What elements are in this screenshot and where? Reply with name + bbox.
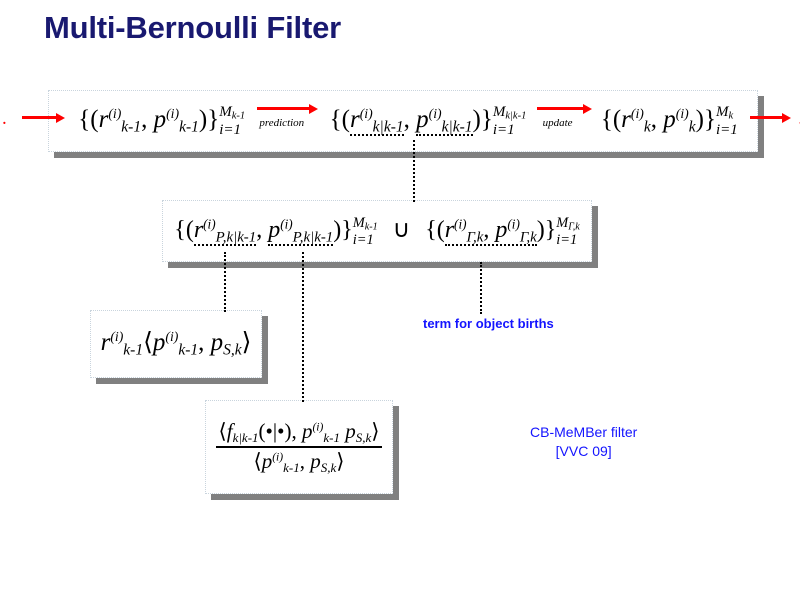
equation-box-survival-density: ⟨fk|k-1(•|•), p(i)k-1 pS,k⟩ ⟨p(i)k-1, pS… [205, 400, 393, 494]
math-p-surv-exist-sub: k-1 [178, 342, 198, 359]
arrow-in [14, 116, 72, 126]
union-symbol: ∪ [384, 217, 420, 243]
fraction-denominator: ⟨p(i)k-1, pS,k⟩ [216, 448, 383, 474]
arrow-out [744, 116, 792, 126]
math-p-prev: p [154, 106, 167, 133]
equation-box-survival-existence: r(i)k-1⟨p(i)k-1, pS,k⟩ [90, 310, 262, 378]
term-r-predicted: r(i)k|k-1 [350, 106, 404, 136]
math-p-num-sup: (i) [312, 421, 323, 433]
fraction: ⟨fk|k-1(•|•), p(i)k-1 pS,k⟩ ⟨p(i)k-1, pS… [216, 421, 383, 474]
math-r-prev-sup: (i) [108, 106, 121, 121]
index-top-sub: k|k-1 [505, 111, 526, 122]
math-f-args: (•|•) [259, 419, 292, 443]
math-ps: p [211, 329, 224, 356]
connector-births-to-annotation [480, 262, 482, 314]
term-r-survival: r(i)P,k|k-1 [194, 217, 256, 246]
index-top: M [353, 215, 365, 231]
math-ps-den: p [310, 449, 321, 473]
ket-bracket: ⟩ [371, 419, 379, 443]
math-index-post: Mki=1 [716, 105, 738, 138]
math-r-surv-exist: r [101, 329, 111, 356]
math-ps-sub: S,k [223, 342, 242, 359]
bra-bracket: ⟨ [219, 419, 227, 443]
math-p-den-sup: (i) [272, 451, 283, 463]
index-top: M [556, 215, 568, 231]
math-p-surv-exist: p [153, 329, 166, 356]
math-r-surv-sup: (i) [203, 216, 215, 231]
slide-canvas: Multi-Bernoulli Filter ... {(r(i)k-1, p(… [0, 0, 800, 599]
index-top-sub: k [728, 111, 733, 122]
arrow-prediction: prediction [251, 116, 323, 126]
math-p-birth-sup: (i) [507, 216, 519, 231]
index-bot: i=1 [353, 233, 378, 248]
math-p-surv: p [268, 217, 280, 243]
math-p-post-sup: (i) [676, 106, 689, 121]
index-bot: i=1 [219, 123, 245, 138]
annotation-reference-line1: CB-MeMBer filter [530, 423, 637, 442]
connector-predicted-to-expansion [413, 140, 415, 202]
term-p-predicted: p(i)k|k-1 [416, 106, 472, 136]
math-p-post-sub: k [689, 118, 696, 135]
math-p-den: p [262, 449, 273, 473]
math-posterior-prev: {(r(i)k-1, p(i)k-1)}Mk-1i=1 [78, 106, 251, 133]
math-index-birth: MΓ,ki=1 [556, 216, 579, 247]
comma: , [291, 419, 296, 443]
math-posterior: {(r(i)k, p(i)k)}Mki=1 [601, 106, 744, 133]
leading-dots: ... [0, 108, 8, 129]
index-top-sub: k-1 [232, 111, 245, 122]
connector-survival-p-to-density [302, 252, 304, 402]
math-index-prev: Mk-1i=1 [219, 105, 245, 138]
index-bot: i=1 [556, 233, 579, 248]
arrow-update: update [533, 116, 595, 126]
math-p-surv-sup: (i) [280, 216, 292, 231]
math-p-surv-exist-sup: (i) [165, 329, 178, 344]
index-top: M [493, 104, 506, 120]
index-top-sub: k-1 [365, 221, 378, 232]
math-r-post: r [621, 106, 631, 133]
math-r-pred-sup: (i) [360, 106, 373, 121]
arrow-label-update: update [543, 118, 573, 129]
math-p-pred: p [416, 106, 429, 133]
equation-box-prediction-expansion: {(r(i)P,k|k-1, p(i)P,k|k-1)}Mk-1i=1 ∪ {(… [162, 200, 592, 262]
math-f-sub: k|k-1 [233, 429, 259, 444]
math-p-birth-sub: Γ,k [520, 229, 537, 245]
math-p-num: p [302, 419, 313, 443]
math-survivals: {(r(i)P,k|k-1, p(i)P,k|k-1)}Mk-1i=1 [174, 217, 383, 243]
index-top-sub: Γ,k [568, 221, 579, 232]
ket-bracket: ⟩ [242, 329, 252, 356]
math-p-prev-sub: k-1 [179, 118, 199, 135]
connector-survival-r-to-existence [224, 252, 226, 312]
math-r-surv-sub: P,k|k-1 [216, 229, 257, 245]
index-top: M [219, 104, 232, 120]
annotation-object-births: term for object births [423, 316, 554, 331]
math-p-birth: p [495, 217, 507, 243]
math-r-post-sup: (i) [631, 106, 644, 121]
arrow-label-prediction: prediction [259, 118, 304, 129]
index-top: M [716, 104, 729, 120]
math-r-surv-exist-sup: (i) [110, 329, 123, 344]
math-index-pred: Mk|k-1i=1 [493, 105, 526, 138]
math-ps-num-sub: S,k [356, 429, 372, 444]
math-p-pred-sub: k|k-1 [442, 118, 473, 135]
comma: , [300, 449, 305, 473]
math-p-post: p [663, 106, 676, 133]
math-r-prev: r [99, 106, 109, 133]
math-p-den-sub: k-1 [283, 459, 300, 474]
math-p-surv-sub: P,k|k-1 [293, 229, 334, 245]
comma: , [198, 329, 204, 356]
math-r-birth-sup: (i) [454, 216, 466, 231]
math-predicted: {(r(i)k|k-1, p(i)k|k-1)}Mk|k-1i=1 [330, 106, 533, 133]
math-r-prev-sub: k-1 [121, 118, 141, 135]
math-r-pred: r [350, 106, 360, 133]
math-r-post-sub: k [644, 118, 651, 135]
bra-bracket: ⟨ [254, 449, 262, 473]
term-birth: r(i)Γ,k, p(i)Γ,k [445, 217, 537, 246]
math-r-birth: r [445, 217, 454, 243]
math-r-surv: r [194, 217, 203, 243]
ket-bracket: ⟩ [336, 449, 344, 473]
annotation-reference: CB-MeMBer filter [VVC 09] [530, 423, 637, 461]
math-ps-num: p [345, 419, 356, 443]
math-p-prev-sup: (i) [166, 106, 179, 121]
fraction-numerator: ⟨fk|k-1(•|•), p(i)k-1 pS,k⟩ [216, 421, 383, 448]
index-bot: i=1 [493, 123, 526, 138]
annotation-reference-line2: [VVC 09] [530, 442, 637, 461]
math-r-pred-sub: k|k-1 [373, 118, 404, 135]
math-p-pred-sup: (i) [429, 106, 442, 121]
math-r-surv-exist-sub: k-1 [123, 342, 143, 359]
term-p-survival: p(i)P,k|k-1 [268, 217, 333, 246]
math-index-surv: Mk-1i=1 [353, 216, 378, 247]
math-births: {(r(i)Γ,k, p(i)Γ,k)}MΓ,ki=1 [425, 217, 580, 243]
math-p-num-sub: k-1 [323, 429, 340, 444]
index-bot: i=1 [716, 123, 738, 138]
math-ps-den-sub: S,k [321, 459, 337, 474]
bra-bracket: ⟨ [143, 329, 153, 356]
math-r-birth-sub: Γ,k [467, 229, 484, 245]
page-title: Multi-Bernoulli Filter [44, 10, 341, 46]
equation-box-recursion: ... {(r(i)k-1, p(i)k-1)}Mk-1i=1 [48, 90, 758, 152]
